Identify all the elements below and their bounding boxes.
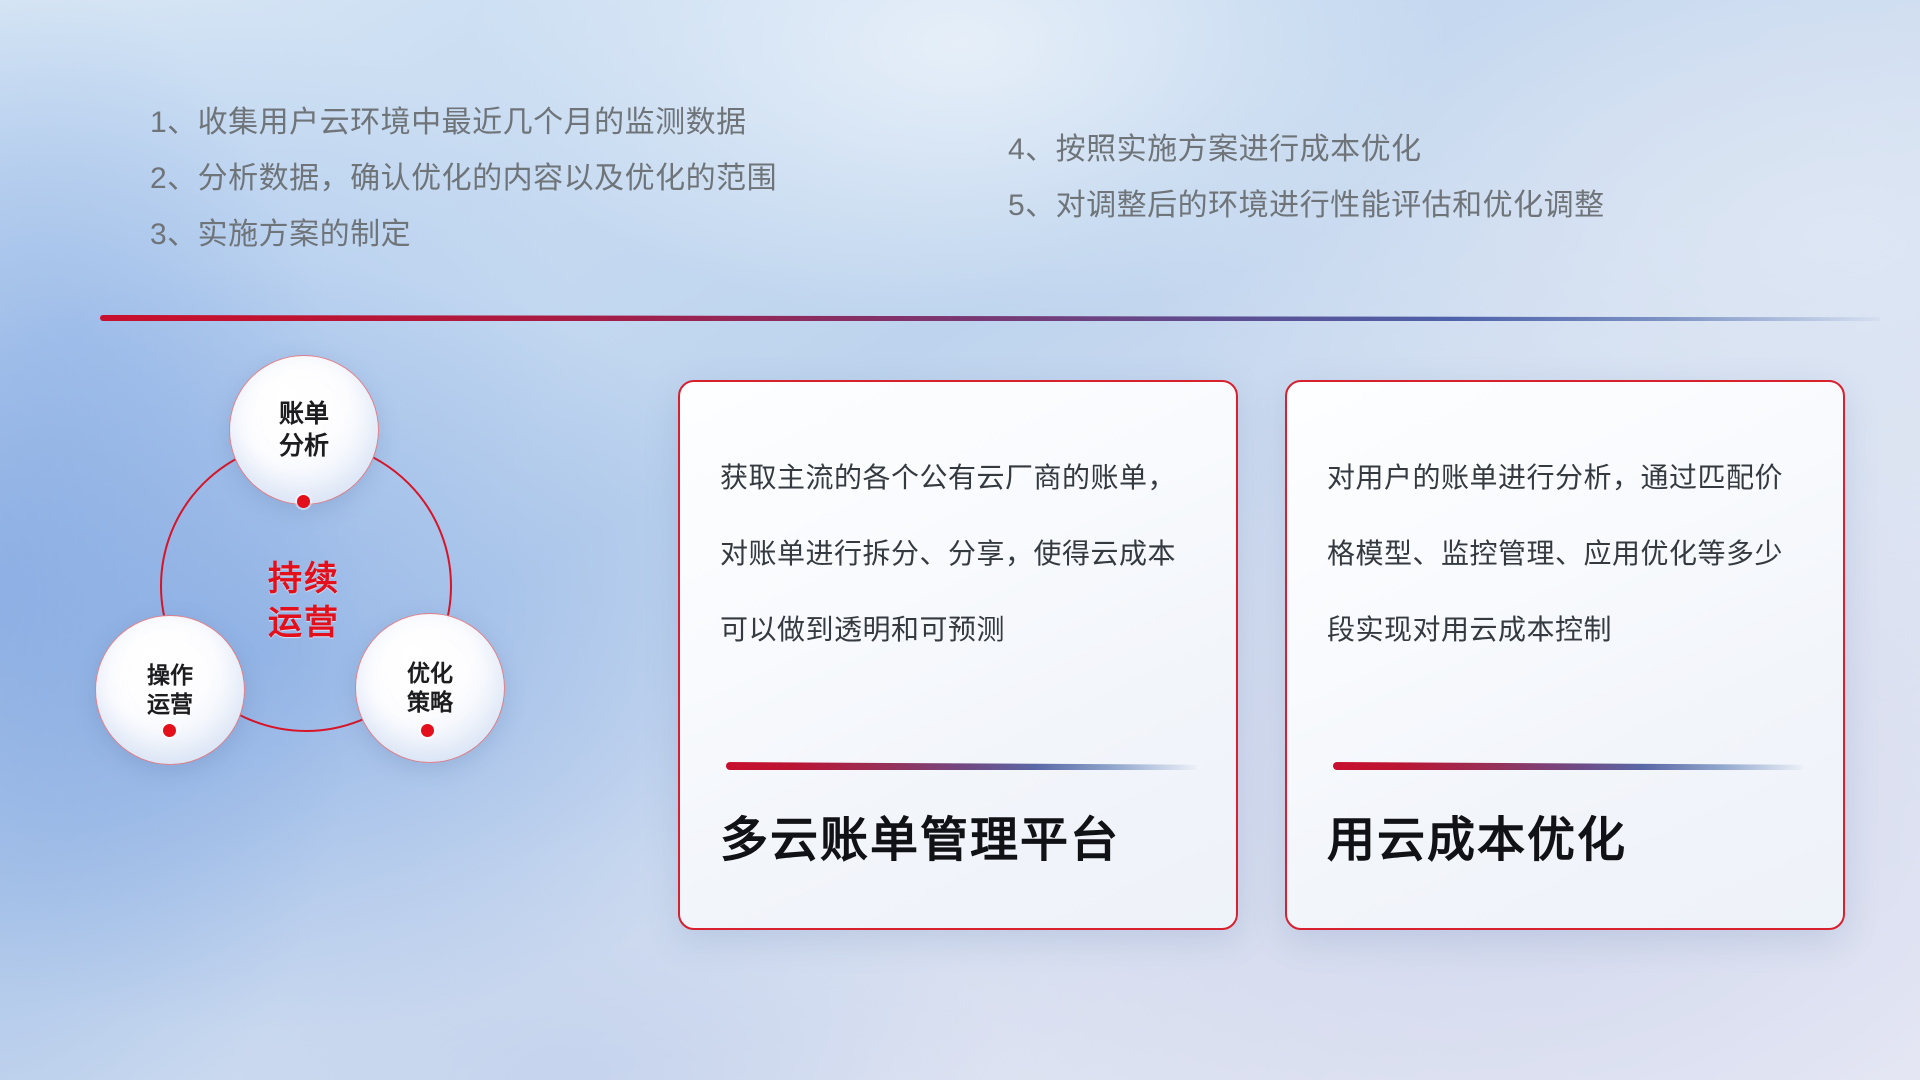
- card-title: 多云账单管理平台: [720, 800, 1196, 894]
- step-item-1: 1、收集用户云环境中最近几个月的监测数据: [150, 95, 777, 151]
- step-item-3: 3、实施方案的制定: [150, 207, 777, 263]
- step-item-5: 5、对调整后的环境进行性能评估和优化调整: [1008, 178, 1605, 234]
- diagram-connector-dot-right: [421, 724, 434, 737]
- continuous-operation-diagram: 持续 运营 账单 分析 操作 运营 优化 策略: [95, 355, 565, 825]
- card-divider-line: [1333, 762, 1803, 770]
- node-label-line-1: 账单: [279, 398, 329, 430]
- steps-list: 1、收集用户云环境中最近几个月的监测数据 2、分析数据，确认优化的内容以及优化的…: [0, 0, 1920, 260]
- step-item-2: 2、分析数据，确认优化的内容以及优化的范围: [150, 151, 777, 207]
- steps-right-column: 4、按照实施方案进行成本优化 5、对调整后的环境进行性能评估和优化调整: [1008, 122, 1605, 234]
- diagram-connector-dot-top: [297, 495, 310, 508]
- card-divider-line: [726, 762, 1196, 770]
- step-item-4: 4、按照实施方案进行成本优化: [1008, 122, 1605, 178]
- center-label-line-1: 持续: [268, 557, 340, 601]
- card-body-text: 对用户的账单进行分析，通过匹配价格模型、监控管理、应用优化等多少段实现对用云成本…: [1327, 440, 1803, 740]
- diagram-center-label: 持续 运营: [160, 440, 448, 728]
- card-cloud-cost-optimization[interactable]: 对用户的账单进行分析，通过匹配价格模型、监控管理、应用优化等多少段实现对用云成本…: [1285, 380, 1845, 930]
- card-multi-cloud-billing-platform[interactable]: 获取主流的各个公有云厂商的账单，对账单进行拆分、分享，使得云成本可以做到透明和可…: [678, 380, 1238, 930]
- steps-left-column: 1、收集用户云环境中最近几个月的监测数据 2、分析数据，确认优化的内容以及优化的…: [150, 95, 777, 263]
- diagram-connector-dot-left: [163, 724, 176, 737]
- card-body-text: 获取主流的各个公有云厂商的账单，对账单进行拆分、分享，使得云成本可以做到透明和可…: [720, 440, 1196, 740]
- center-label-line-2: 运营: [268, 601, 340, 645]
- card-title: 用云成本优化: [1327, 800, 1803, 894]
